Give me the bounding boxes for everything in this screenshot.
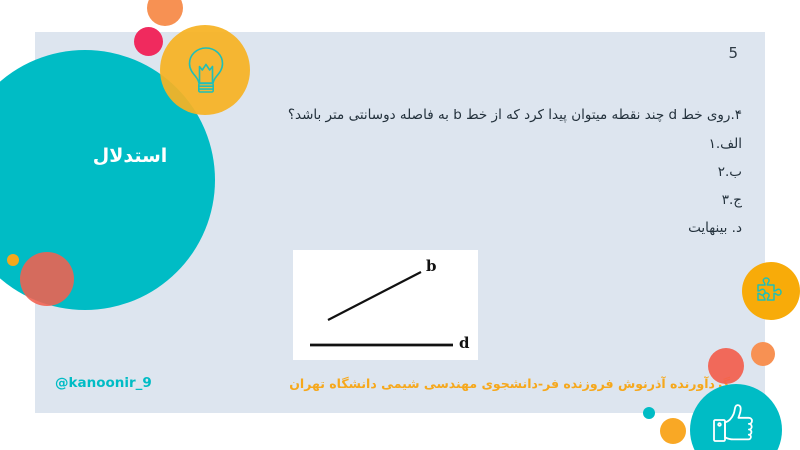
question-block: ۴.روی خط d چند نقطه میتوان پیدا کرد که ا… — [272, 106, 742, 247]
geometry-lines — [293, 250, 478, 360]
question-option-b[interactable]: ب.۲ — [272, 163, 742, 182]
badge-label: استدلال — [0, 145, 260, 167]
social-handle[interactable]: @kanoonir_9 — [55, 375, 152, 391]
decor-dot-orange-top-right — [751, 342, 775, 366]
geometry-figure: b d — [293, 250, 478, 360]
decor-circle-red-left — [20, 252, 74, 306]
decor-dot-orange-bottom-left — [660, 418, 686, 444]
question-prompt: ۴.روی خط d چند نقطه میتوان پیدا کرد که ا… — [272, 106, 742, 125]
figure-label-b: b — [426, 257, 437, 275]
thumbs-up-icon — [710, 398, 760, 448]
page-number: 5 — [728, 44, 738, 62]
decor-dot-teal-small — [643, 407, 655, 419]
decor-dot-amber-left — [7, 254, 19, 266]
puzzle-piece-icon — [754, 274, 788, 308]
decor-circle-red-thumb — [708, 348, 744, 384]
slide-canvas: استدلال 5 ۴.روی خط d چند نقطه میتوان پید… — [0, 0, 800, 450]
decor-dot-pink — [134, 27, 163, 56]
lightbulb-icon — [178, 42, 234, 98]
decor-dot-orange-top — [147, 0, 183, 26]
figure-label-d: d — [459, 334, 470, 352]
question-option-c[interactable]: ج.۳ — [272, 191, 742, 210]
question-option-d[interactable]: د. بینهایت — [272, 219, 742, 238]
credits-text: گردآورنده آذرنوش فروزنده فر-دانشجوی مهند… — [289, 376, 730, 391]
question-option-a[interactable]: الف.۱ — [272, 135, 742, 154]
